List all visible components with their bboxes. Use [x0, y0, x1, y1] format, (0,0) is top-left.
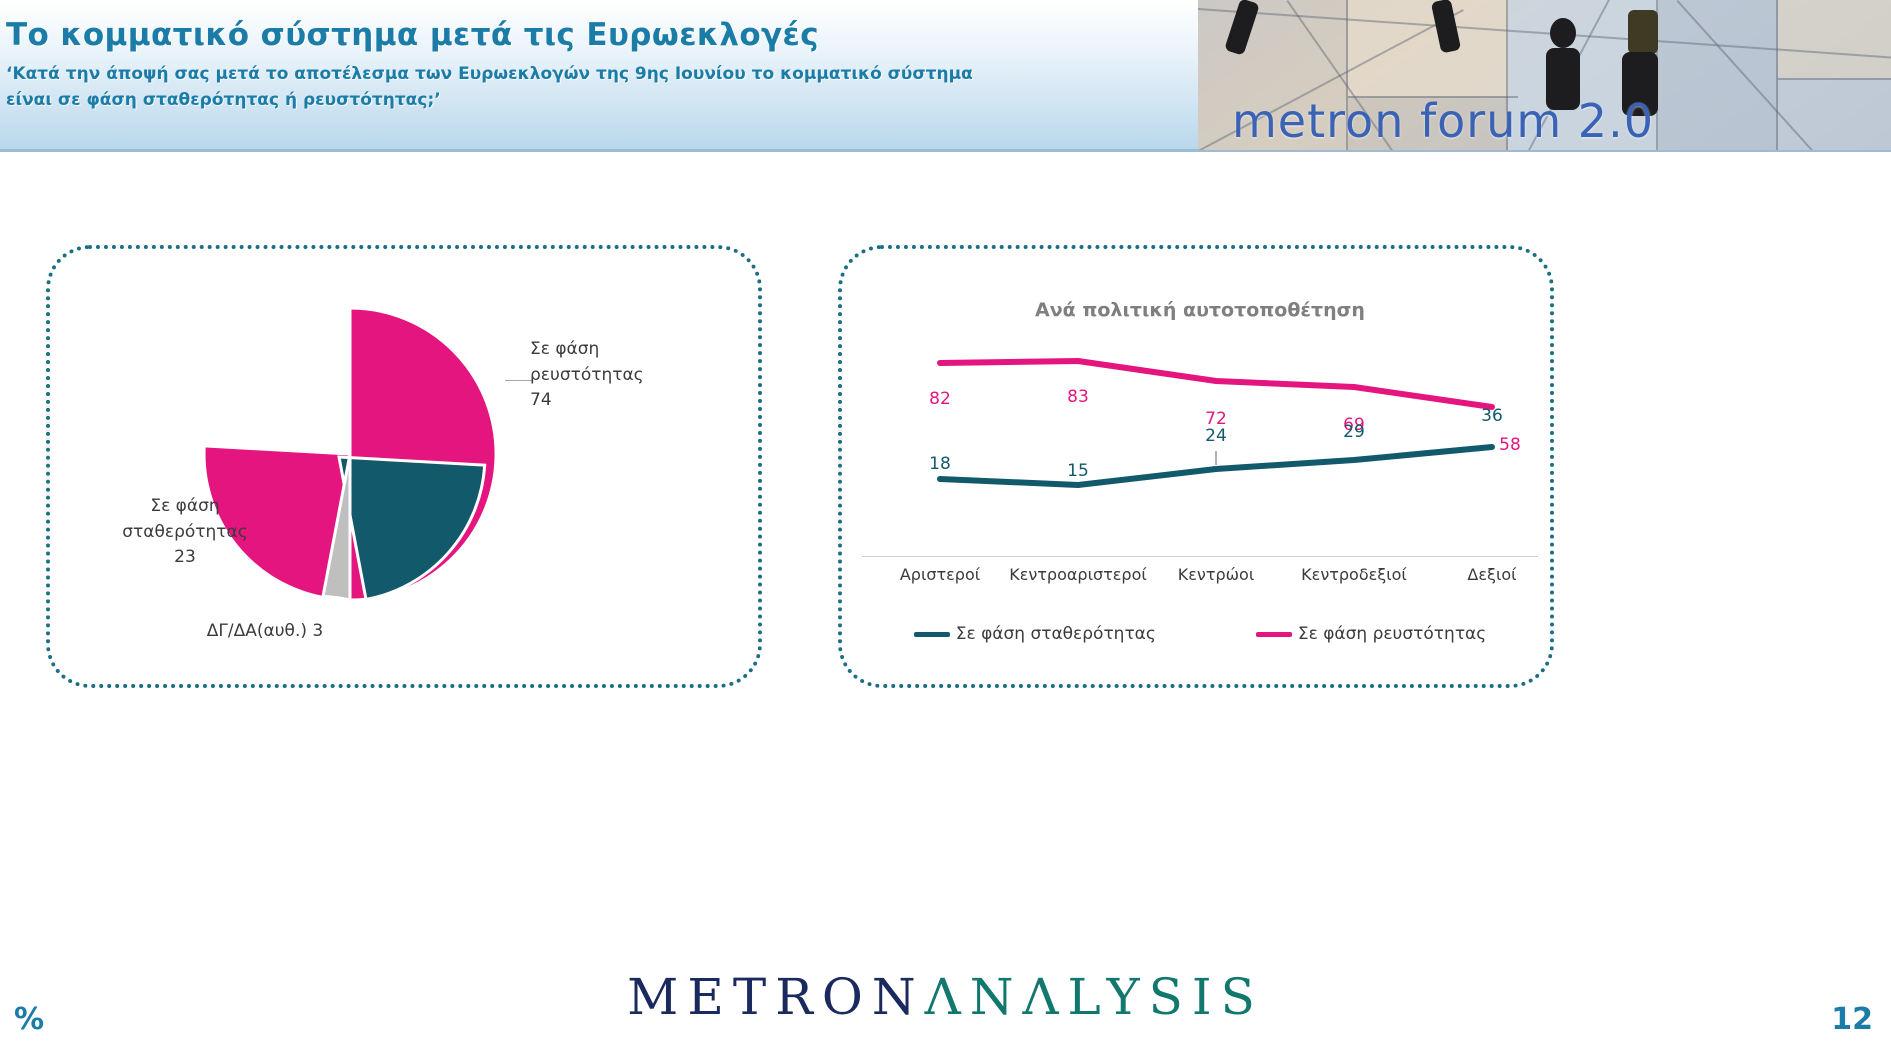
legend-swatch-icon-reustotitas: [1256, 632, 1292, 637]
page-subtitle: ‘Κατά την άποψή σας μετά το αποτέλεσμα τ…: [6, 61, 1166, 114]
data-label-statherotitas-2: 24: [1205, 426, 1227, 446]
page-title: Το κομματικό σύστημα μετά τις Ευρωεκλογέ…: [6, 18, 1186, 52]
pie-label-statherotitas: Σε φάση σταθερότητας 23: [105, 494, 265, 571]
line-chart-title: Ανά πολιτική αυτοτοποθέτηση: [842, 299, 1558, 321]
x-axis-tick-2: Κεντρώοι: [1178, 565, 1254, 584]
data-label-statherotitas-1: 15: [1067, 461, 1089, 481]
line-chart-legend: Σε φάση σταθερότητας Σε φάση ρευστότητας: [842, 624, 1558, 644]
slide-header: Το κομματικό σύστημα μετά τις Ευρωεκλογέ…: [0, 0, 1891, 152]
pie-label-reustotitas-line2: ρευστότητας: [530, 365, 644, 385]
data-label-statherotitas-3: 29: [1343, 422, 1365, 442]
legend-swatch-icon-statherotitas: [914, 632, 950, 637]
x-axis-line: [862, 556, 1538, 557]
pie-label-statherotitas-line2: σταθερότητας: [122, 522, 247, 542]
pie-label-statherotitas-value: 23: [174, 547, 196, 567]
line-chart: Ανά πολιτική αυτοτοποθέτηση 82 83 72 69 …: [842, 249, 1558, 692]
data-label-statherotitas-0: 18: [929, 454, 951, 474]
x-axis-tick-0: Αριστεροί: [900, 565, 980, 584]
subtitle-line-1: ‘Κατά την άποψή σας μετά το αποτέλεσμα τ…: [6, 61, 1166, 87]
x-axis-tick-1: Κεντροαριστεροί: [1009, 565, 1147, 584]
x-axis-tick-4: Δεξιοί: [1467, 565, 1516, 584]
pie-label-reustotitas-line1: Σε φάση: [530, 339, 599, 359]
line-chart-plot-area: 82 83 72 69 58 18 15 24 29 36: [862, 344, 1538, 554]
pie-chart: Σε φάση ρευστότητας 74 Σε φάση σταθερότη…: [50, 249, 766, 692]
pie-label-reustotitas: Σε φάση ρευστότητας 74: [530, 337, 644, 414]
metron-forum-logo-image: metron forum 2.0: [1198, 0, 1891, 150]
pie-slice-statherotitas: [339, 457, 485, 600]
legend-item-statherotitas[interactable]: Σε φάση σταθερότητας: [914, 624, 1156, 644]
data-label-reustotitas-4: 58: [1499, 435, 1521, 455]
brand-analysis: ΛΝΛLYSIS: [925, 968, 1264, 1026]
subtitle-line-2: είναι σε φάση σταθερότητας ή ρευστότητας…: [6, 87, 1166, 113]
data-label-statherotitas-4: 36: [1481, 406, 1503, 426]
pie-label-statherotitas-line1: Σε φάση: [150, 496, 219, 516]
data-label-reustotitas-1: 83: [1067, 387, 1089, 407]
legend-label-reustotitas: Σε φάση ρευστότητας: [1298, 624, 1486, 644]
brand-metron: METRON: [627, 968, 924, 1026]
x-axis-labels: Αριστεροί Κεντροαριστεροί Κεντρώοι Κεντρ…: [862, 565, 1538, 591]
line-chart-panel: Ανά πολιτική αυτοτοποθέτηση 82 83 72 69 …: [838, 245, 1554, 688]
logo-wordmark: metron forum 2.0: [1232, 94, 1654, 148]
page-number: 12: [1831, 1002, 1873, 1037]
legend-label-statherotitas: Σε φάση σταθερότητας: [956, 624, 1156, 644]
metron-analysis-wordmark: METRONΛΝΛLYSIS: [0, 968, 1891, 1026]
pie-leader-line-reustotitas: [505, 380, 533, 381]
line-chart-svg: [862, 344, 1538, 554]
pie-chart-panel: Σε φάση ρευστότητας 74 Σε φάση σταθερότη…: [46, 245, 762, 688]
x-axis-tick-3: Κεντροδεξιοί: [1301, 565, 1407, 584]
data-label-reustotitas-0: 82: [929, 389, 951, 409]
legend-item-reustotitas[interactable]: Σε φάση ρευστότητας: [1256, 624, 1486, 644]
line-series-reustotitas: [940, 361, 1492, 407]
pie-label-dgda: ΔΓ/ΔΑ(αυθ.) 3: [155, 619, 375, 645]
header-text-block: Το κομματικό σύστημα μετά τις Ευρωεκλογέ…: [6, 18, 1186, 114]
pie-label-reustotitas-value: 74: [530, 390, 552, 410]
